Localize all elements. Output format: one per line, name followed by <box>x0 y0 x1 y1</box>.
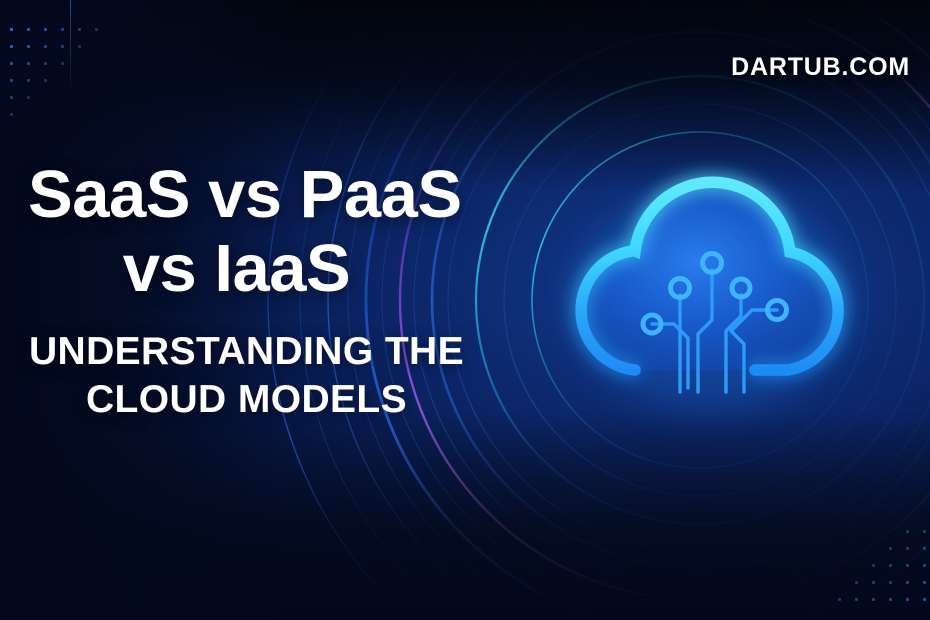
dot-grid-bottom-right <box>838 530 930 620</box>
decor-dot <box>872 564 875 567</box>
decor-dot <box>44 28 47 31</box>
decor-dot <box>27 45 30 48</box>
decor-dot <box>889 564 892 567</box>
decor-dot <box>95 28 98 31</box>
decor-dot <box>44 62 47 65</box>
decor-dot <box>906 530 909 533</box>
decor-dot <box>10 62 13 65</box>
decor-dot <box>27 79 30 82</box>
decor-dot <box>889 547 892 550</box>
decor-dot <box>923 564 926 567</box>
page-title: SaaS vs PaaS vs IaaS <box>0 158 515 306</box>
decor-dot <box>10 113 13 116</box>
title-line-1: SaaS vs PaaS <box>0 158 515 232</box>
decor-dot <box>906 564 909 567</box>
decor-dot <box>855 598 858 601</box>
decor-dot <box>44 79 47 82</box>
decor-dot <box>838 598 841 601</box>
page-subtitle: UNDERSTANDING THE CLOUD MODELS <box>0 328 515 424</box>
decor-dot <box>855 581 858 584</box>
decor-dot <box>78 28 81 31</box>
poster-canvas: SaaS vs PaaS vs IaaS UNDERSTANDING THE C… <box>0 0 930 620</box>
decor-dot <box>923 581 926 584</box>
watermark-brand: DARTUB.COM <box>731 53 910 82</box>
decor-dot <box>923 598 926 601</box>
decor-dot <box>906 598 909 601</box>
decor-dot <box>889 581 892 584</box>
decor-dot <box>872 598 875 601</box>
decor-dot <box>61 45 64 48</box>
subtitle-line-2: CLOUD MODELS <box>0 376 493 424</box>
decor-dot <box>906 547 909 550</box>
text-block: SaaS vs PaaS vs IaaS UNDERSTANDING THE C… <box>0 158 515 424</box>
subtitle-line-1: UNDERSTANDING THE <box>0 328 493 376</box>
cloud-circuit-icon <box>512 130 912 450</box>
decor-dot <box>889 598 892 601</box>
decor-dot <box>27 96 30 99</box>
decor-dot <box>906 581 909 584</box>
decor-dot <box>923 530 926 533</box>
decor-dot <box>872 581 875 584</box>
decor-dot <box>78 45 81 48</box>
decor-dot <box>61 28 64 31</box>
decor-dot <box>27 62 30 65</box>
decor-dot <box>44 45 47 48</box>
decor-dot <box>10 96 13 99</box>
decor-dot <box>27 28 30 31</box>
decor-dot <box>10 28 13 31</box>
decor-dot <box>10 79 13 82</box>
decor-dot <box>10 45 13 48</box>
decor-dot <box>923 547 926 550</box>
dot-grid-top-left <box>10 28 130 148</box>
decor-dot <box>61 62 64 65</box>
title-line-2: vs IaaS <box>0 232 515 306</box>
